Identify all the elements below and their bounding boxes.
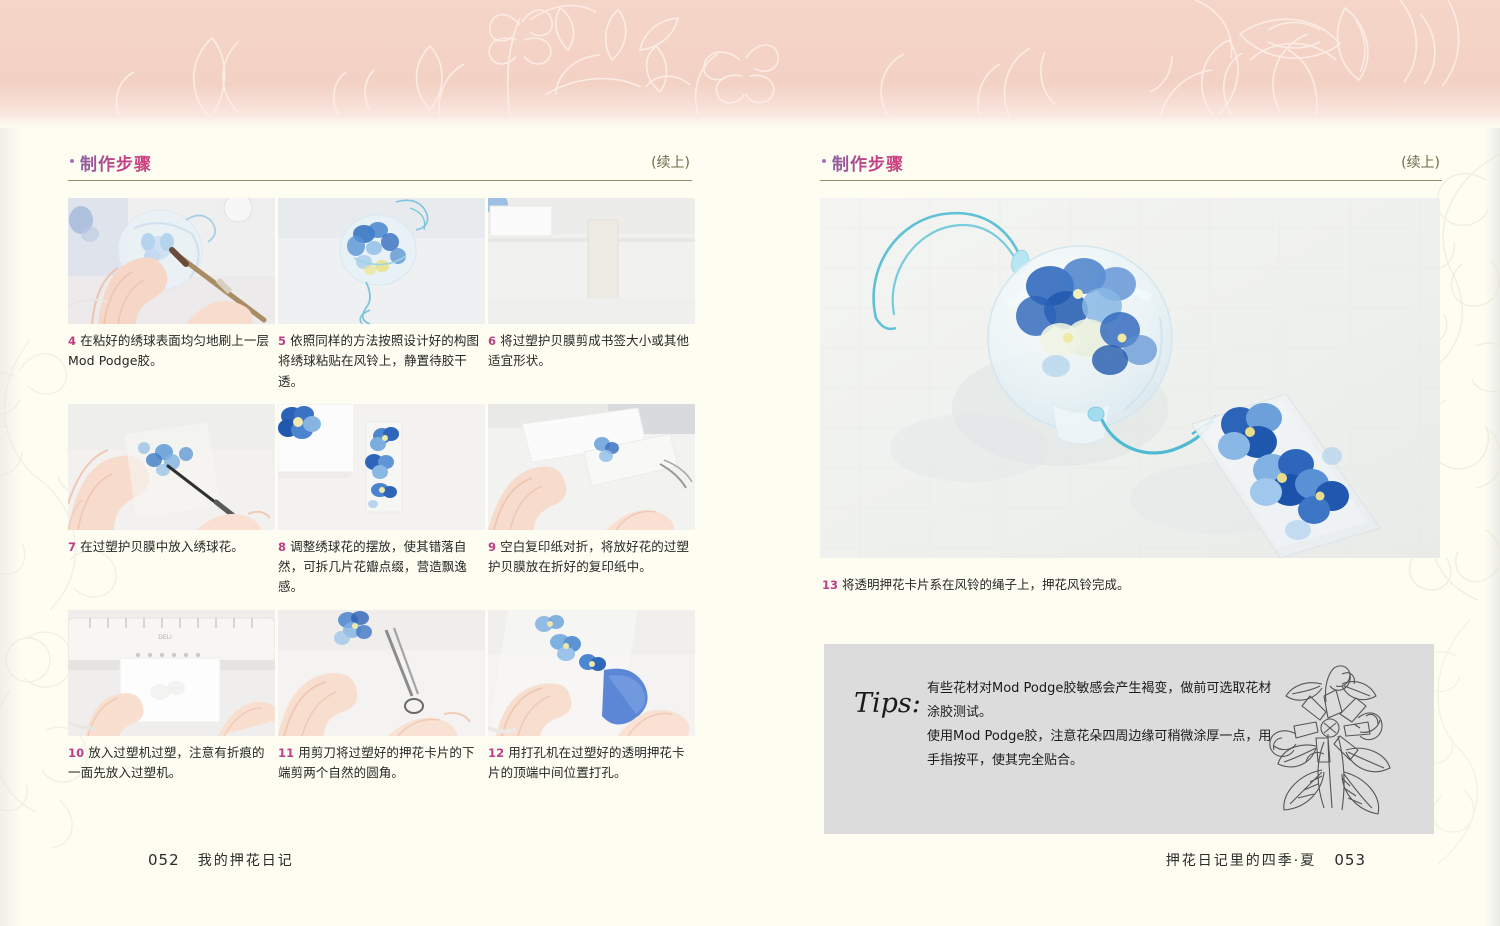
step-number: 7 bbox=[68, 540, 76, 554]
tips-line: 使用Mod Podge胶，注意花朵四周边缘可稍微涂厚一点，用手指按平，使其完全贴… bbox=[927, 725, 1277, 773]
step-caption: 11用剪刀将过塑好的押花卡片的下端剪两个自然的圆角。 bbox=[278, 743, 485, 784]
step-text: 放入过塑机过塑，注意有折痕的一面先放入过塑机。 bbox=[68, 745, 265, 780]
hero-caption: 13将透明押花卡片系在风铃的绳子上，押花风铃完成。 bbox=[822, 574, 1130, 593]
step-caption: 6将过塑护贝膜剪成书签大小或其他适宜形状。 bbox=[488, 331, 695, 372]
left-section-title: 制作步骤 bbox=[80, 150, 152, 175]
step-card: 5依照同样的方法按照设计好的构图将绣球粘贴在风铃上，静置待胶干透。 bbox=[278, 198, 485, 392]
tips-label: Tips: bbox=[854, 688, 921, 719]
step-photo-4 bbox=[68, 198, 275, 324]
tips-line: 有些花材对Mod Podge胶敏感会产生褐变，做前可选取花材涂胶测试。 bbox=[927, 677, 1277, 725]
step-text: 依照同样的方法按照设计好的构图将绣球粘贴在风铃上，静置待胶干透。 bbox=[278, 333, 479, 389]
step-photo-5 bbox=[278, 198, 485, 324]
left-page-edge-shadow bbox=[0, 128, 22, 926]
step-number: 12 bbox=[488, 746, 504, 760]
step-photo-10: DELI bbox=[68, 610, 275, 736]
bullet-dot-icon bbox=[70, 159, 74, 163]
left-footer: 052 我的押花日记 bbox=[148, 850, 294, 870]
step-number: 9 bbox=[488, 540, 496, 554]
step-photo-8 bbox=[278, 404, 485, 530]
step-text: 将过塑护贝膜剪成书签大小或其他适宜形状。 bbox=[488, 333, 689, 368]
step-text: 在过塑护贝膜中放入绣球花。 bbox=[80, 539, 244, 554]
right-page-edge-shadow bbox=[1484, 128, 1500, 926]
step-text: 将透明押花卡片系在风铃的绳子上，押花风铃完成。 bbox=[842, 577, 1130, 592]
flower-line-drawing-icon bbox=[1254, 658, 1414, 820]
tips-box: Tips: 有些花材对Mod Podge胶敏感会产生褐变，做前可选取花材涂胶测试… bbox=[824, 644, 1434, 834]
header-divider bbox=[820, 180, 1442, 181]
right-continued-label: (续上) bbox=[1401, 152, 1440, 172]
step-number: 5 bbox=[278, 334, 286, 348]
step-text: 用打孔机在过塑好的透明押花卡片的顶端中间位置打孔。 bbox=[488, 745, 685, 780]
left-book-title: 我的押花日记 bbox=[198, 853, 294, 869]
step-caption: 9空白复印纸对折，将放好花的过塑护贝膜放在折好的复印纸中。 bbox=[488, 537, 695, 578]
left-page-number: 052 bbox=[148, 851, 180, 869]
left-page: 制作步骤 (续上) bbox=[68, 150, 692, 910]
step-caption: 7在过塑护贝膜中放入绣球花。 bbox=[68, 537, 275, 557]
step-card: DELI bbox=[68, 610, 275, 784]
step-caption: 8调整绣球花的摆放，使其错落自然，可拆几片花瓣点缀，营造飘逸感。 bbox=[278, 537, 485, 598]
right-page: 制作步骤 (续上) bbox=[820, 150, 1442, 910]
right-book-title: 押花日记里的四季·夏 bbox=[1166, 853, 1316, 869]
step-text: 用剪刀将过塑好的押花卡片的下端剪两个自然的圆角。 bbox=[278, 745, 475, 780]
step-caption: 12用打孔机在过塑好的透明押花卡片的顶端中间位置打孔。 bbox=[488, 743, 695, 784]
right-section-title: 制作步骤 bbox=[832, 150, 904, 175]
step-grid: 4在粘好的绣球表面均匀地刷上一层Mod Podge胶。 bbox=[68, 198, 692, 783]
step-card: 8调整绣球花的摆放，使其错落自然，可拆几片花瓣点缀，营造飘逸感。 bbox=[278, 404, 485, 598]
step-card: 7在过塑护贝膜中放入绣球花。 bbox=[68, 404, 275, 598]
hero-photo-finished-windchime bbox=[820, 198, 1440, 558]
step-card: 12用打孔机在过塑好的透明押花卡片的顶端中间位置打孔。 bbox=[488, 610, 695, 784]
step-number: 11 bbox=[278, 746, 294, 760]
step-caption: 5依照同样的方法按照设计好的构图将绣球粘贴在风铃上，静置待胶干透。 bbox=[278, 331, 485, 392]
banner-fade bbox=[0, 118, 1500, 128]
right-section-header: 制作步骤 (续上) bbox=[820, 150, 1442, 184]
step-photo-9 bbox=[488, 404, 695, 530]
step-card: 11用剪刀将过塑好的押花卡片的下端剪两个自然的圆角。 bbox=[278, 610, 485, 784]
step-number: 6 bbox=[488, 334, 496, 348]
step-card: 6将过塑护贝膜剪成书签大小或其他适宜形状。 bbox=[488, 198, 695, 392]
step-number: 4 bbox=[68, 334, 76, 348]
step-caption: 4在粘好的绣球表面均匀地刷上一层Mod Podge胶。 bbox=[68, 331, 275, 372]
step-photo-11 bbox=[278, 610, 485, 736]
bullet-dot-icon bbox=[822, 159, 826, 163]
svg-text:DELI: DELI bbox=[158, 634, 172, 641]
right-page-number: 053 bbox=[1334, 851, 1366, 869]
step-card: 9空白复印纸对折，将放好花的过塑护贝膜放在折好的复印纸中。 bbox=[488, 404, 695, 598]
step-number: 8 bbox=[278, 540, 286, 554]
step-text: 空白复印纸对折，将放好花的过塑护贝膜放在折好的复印纸中。 bbox=[488, 539, 689, 574]
step-photo-6 bbox=[488, 198, 695, 324]
header-divider bbox=[68, 180, 692, 181]
tips-body: 有些花材对Mod Podge胶敏感会产生褐变，做前可选取花材涂胶测试。 使用Mo… bbox=[927, 677, 1277, 773]
left-section-header: 制作步骤 (续上) bbox=[68, 150, 692, 184]
left-continued-label: (续上) bbox=[651, 152, 690, 172]
step-photo-7 bbox=[68, 404, 275, 530]
step-caption: 10放入过塑机过塑，注意有折痕的一面先放入过塑机。 bbox=[68, 743, 275, 784]
right-footer: 押花日记里的四季·夏 053 bbox=[1166, 850, 1366, 870]
banner-floral-line-art bbox=[0, 0, 1500, 118]
step-card: 4在粘好的绣球表面均匀地刷上一层Mod Podge胶。 bbox=[68, 198, 275, 392]
book-spread: 制作步骤 (续上) bbox=[0, 0, 1500, 926]
step-text: 调整绣球花的摆放，使其错落自然，可拆几片花瓣点缀，营造飘逸感。 bbox=[278, 539, 467, 595]
step-photo-12 bbox=[488, 610, 695, 736]
step-number: 10 bbox=[68, 746, 84, 760]
top-decorative-banner bbox=[0, 0, 1500, 118]
step-text: 在粘好的绣球表面均匀地刷上一层Mod Podge胶。 bbox=[68, 333, 269, 368]
step-number: 13 bbox=[822, 578, 838, 592]
